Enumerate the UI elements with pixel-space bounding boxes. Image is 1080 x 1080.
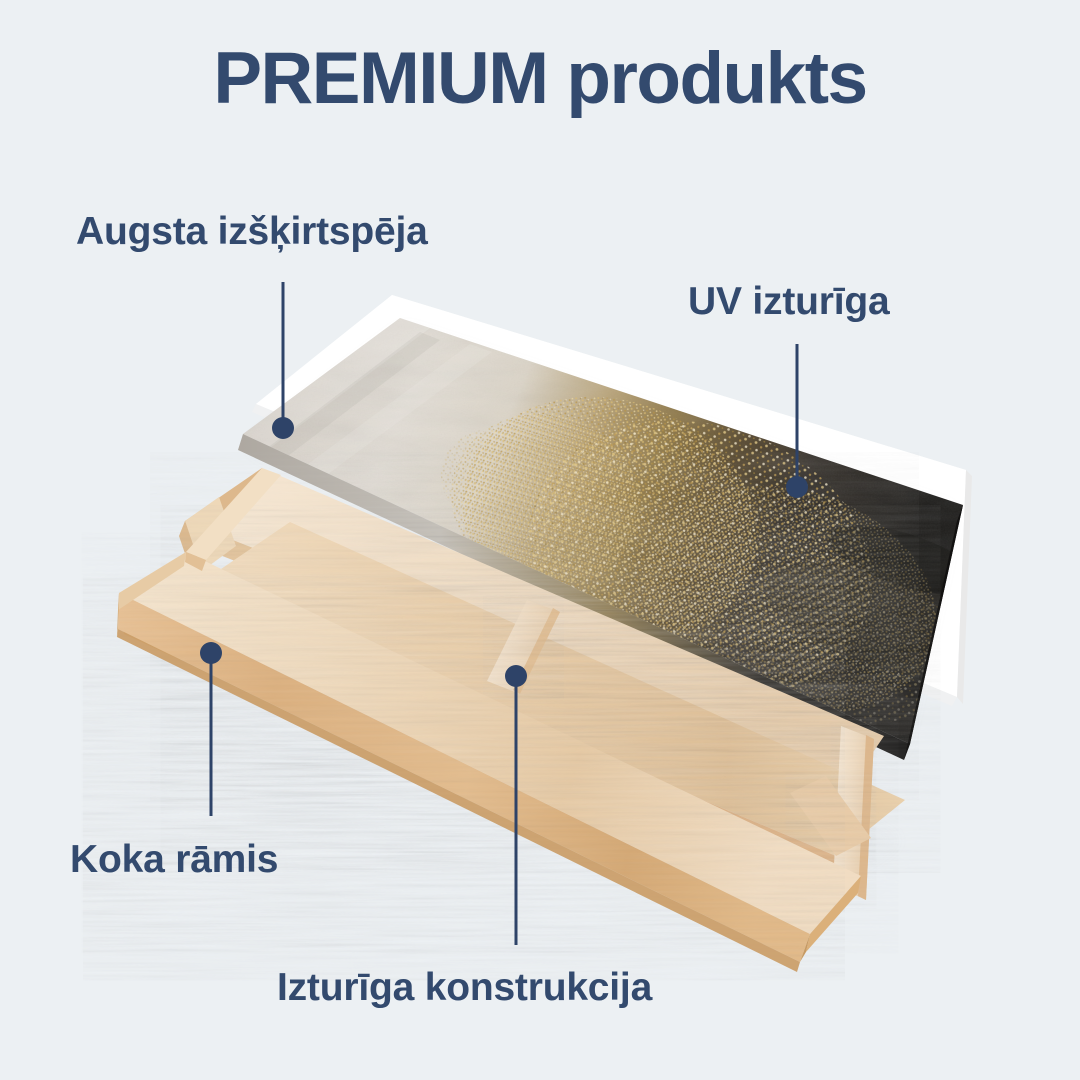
infographic-canvas: PREMIUM produkts Augsta izšķirtspēja UV … bbox=[0, 0, 1080, 1080]
leader-dot-resolution bbox=[272, 417, 294, 439]
leader-dot-construction bbox=[505, 665, 527, 687]
page-title: PREMIUM produkts bbox=[213, 42, 866, 115]
exploded-product-illustration bbox=[0, 0, 1080, 1080]
callout-label-frame: Koka rāmis bbox=[70, 840, 278, 879]
callout-label-resolution: Augsta izšķirtspēja bbox=[76, 212, 428, 251]
callout-label-uv: UV izturīga bbox=[688, 282, 889, 321]
leader-dot-frame bbox=[200, 642, 222, 664]
callout-label-construction: Izturīga konstrukcija bbox=[277, 968, 652, 1007]
leader-dot-uv bbox=[786, 476, 808, 498]
